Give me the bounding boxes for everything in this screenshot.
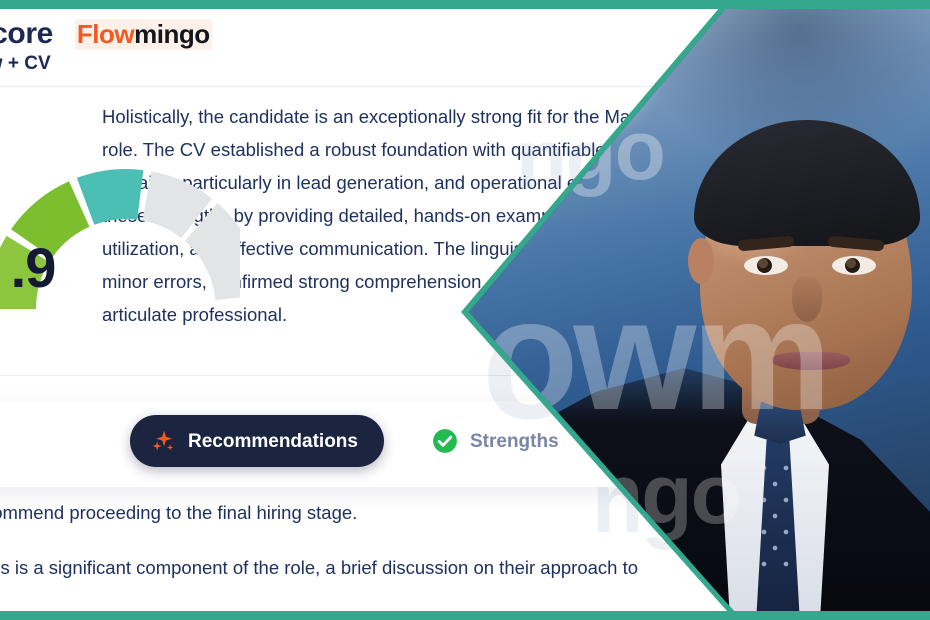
fit-score-gauge: .9: [0, 123, 240, 363]
check-circle-icon: [432, 428, 458, 454]
tab-recommendations[interactable]: Recommendations: [130, 415, 384, 467]
tab-strengths[interactable]: Strengths: [410, 416, 581, 466]
brand-prefix: Flow: [77, 19, 134, 49]
brand-suffix: mingo: [134, 19, 210, 49]
gauge-segment-3: [77, 169, 144, 225]
tab-recommendations-label: Recommendations: [188, 432, 358, 451]
ear-shape: [688, 238, 714, 284]
nose-shape: [792, 276, 822, 322]
page-title: t Score: [0, 17, 53, 51]
brand-logo: Flowmingo: [75, 19, 212, 50]
page-subtitle: rview + CV: [0, 53, 51, 75]
frame-bar-top: [0, 0, 930, 9]
fit-score-value: .9: [0, 235, 126, 300]
eye-right-shape: [832, 256, 876, 275]
frame-bar-bottom: [0, 611, 930, 620]
mouth-shape: [772, 352, 850, 370]
sparkles-icon: [150, 428, 176, 454]
eye-left-shape: [744, 256, 788, 275]
screenshot-root: t Score Flowmingo rview + CV: [0, 0, 930, 620]
tab-strengths-label: Strengths: [470, 432, 559, 451]
title-row: t Score Flowmingo: [0, 17, 212, 51]
